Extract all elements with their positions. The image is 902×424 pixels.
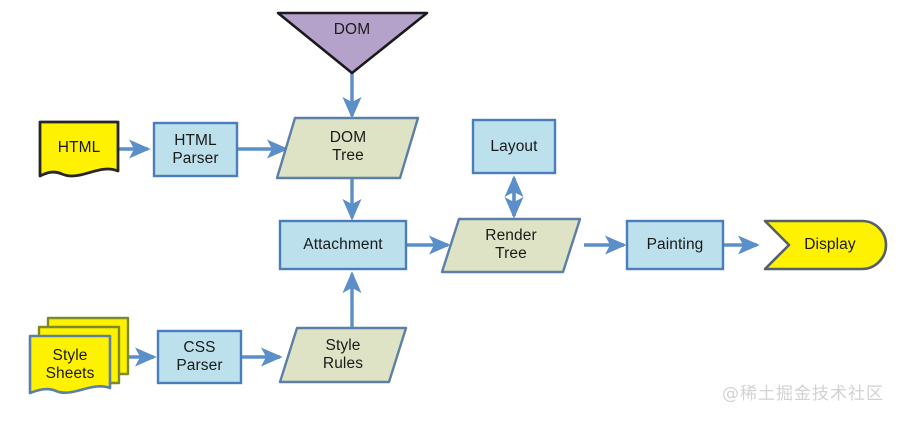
node-painting[interactable] (627, 221, 723, 269)
node-dom-tree[interactable] (277, 118, 418, 178)
node-html[interactable] (40, 122, 118, 176)
node-dom[interactable] (278, 13, 427, 73)
node-display[interactable] (765, 221, 886, 269)
node-html-parser[interactable] (154, 123, 237, 176)
node-css-parser[interactable] (158, 331, 241, 383)
flowchart-canvas (0, 0, 902, 424)
node-render-tree[interactable] (442, 219, 580, 272)
node-attachment[interactable] (280, 221, 406, 269)
node-style-sheets[interactable] (30, 336, 110, 393)
node-layout[interactable] (473, 120, 555, 173)
watermark: @稀土掘金技术社区 (722, 381, 882, 407)
node-style-rules[interactable] (280, 328, 406, 382)
